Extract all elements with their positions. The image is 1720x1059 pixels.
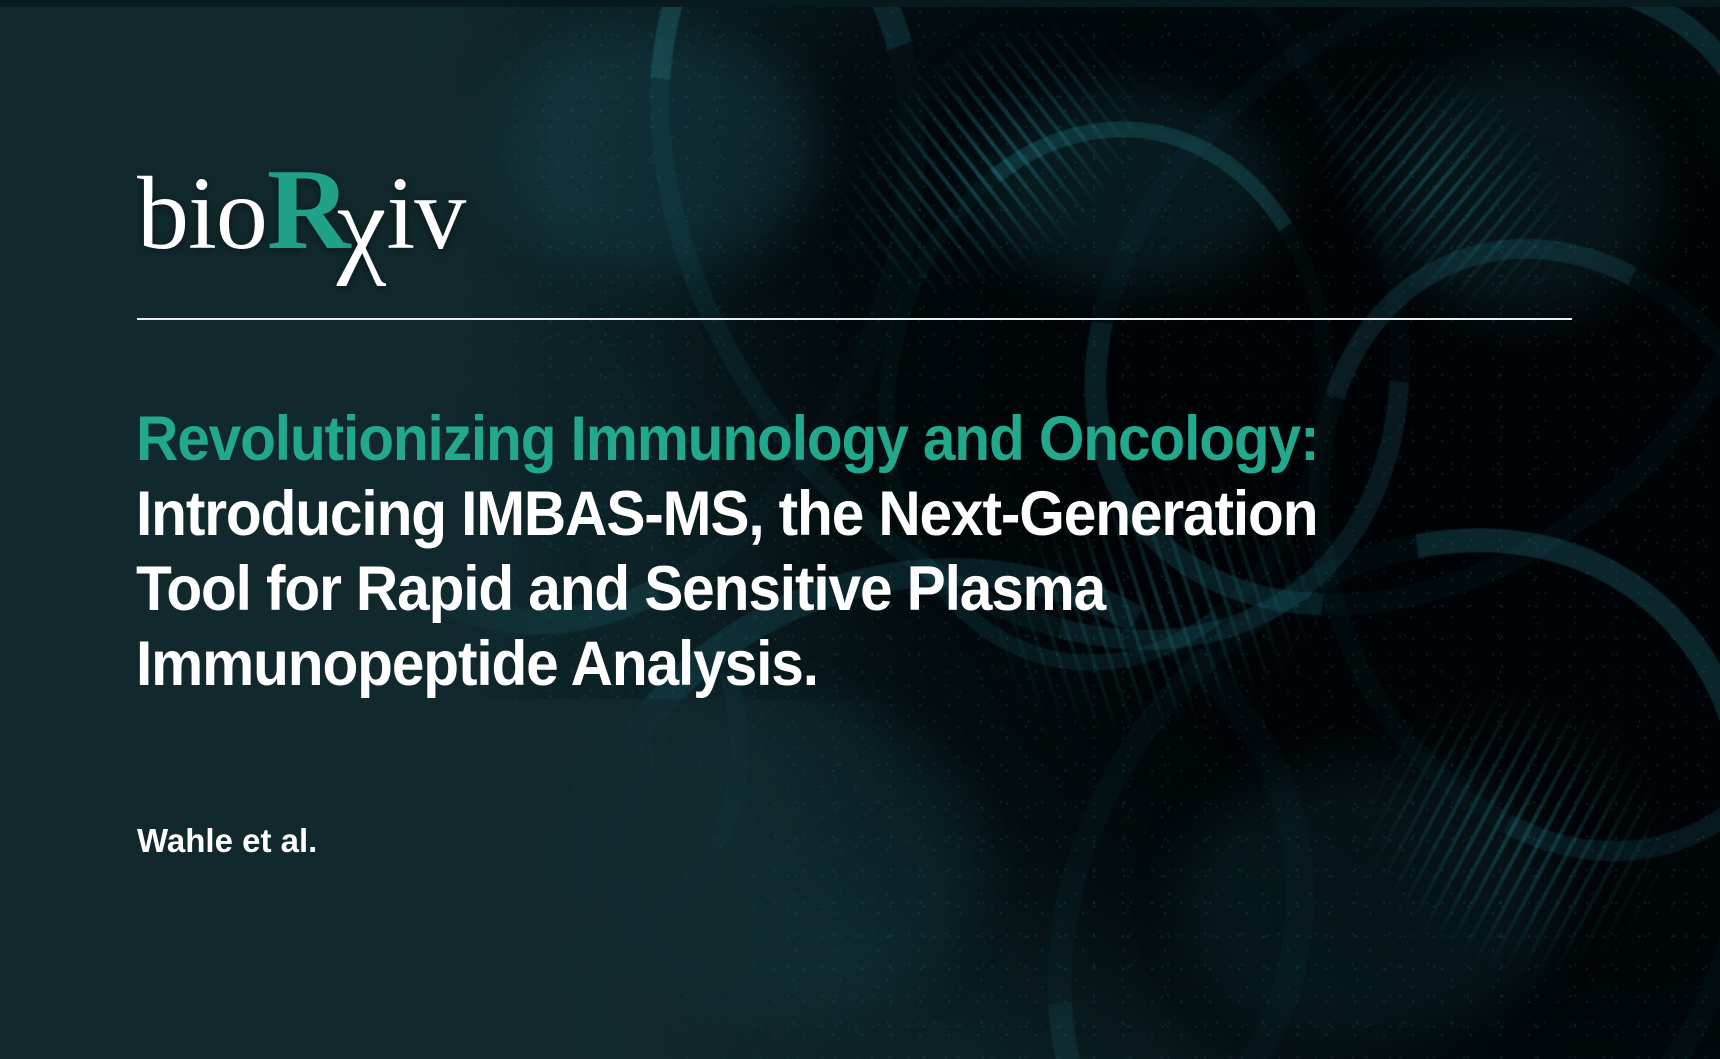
banner-content: bioRχiv Revolutionizing Immunology and O… — [0, 0, 1720, 1059]
logo-r-mark: R — [267, 146, 345, 274]
logo-chi-glyph: χ — [337, 163, 385, 287]
logo-prefix: bio — [137, 156, 267, 271]
article-authors: Wahle et al. — [137, 822, 317, 860]
article-title-line-2: Introducing IMBAS-MS, the Next-Generatio… — [136, 477, 1494, 552]
article-title-line-3: Tool for Rapid and Sensitive Plasma — [136, 552, 1494, 627]
article-title: Revolutionizing Immunology and Oncology:… — [136, 402, 1494, 702]
header-divider-rule — [137, 318, 1572, 320]
article-title-line-4: Immunopeptide Analysis. — [136, 627, 1494, 702]
biorxiv-article-banner: bioRχiv Revolutionizing Immunology and O… — [0, 0, 1720, 1059]
biorxiv-logo[interactable]: bioRχiv — [137, 152, 465, 268]
logo-suffix: iv — [386, 156, 465, 271]
article-title-line-1: Revolutionizing Immunology and Oncology: — [136, 402, 1494, 477]
